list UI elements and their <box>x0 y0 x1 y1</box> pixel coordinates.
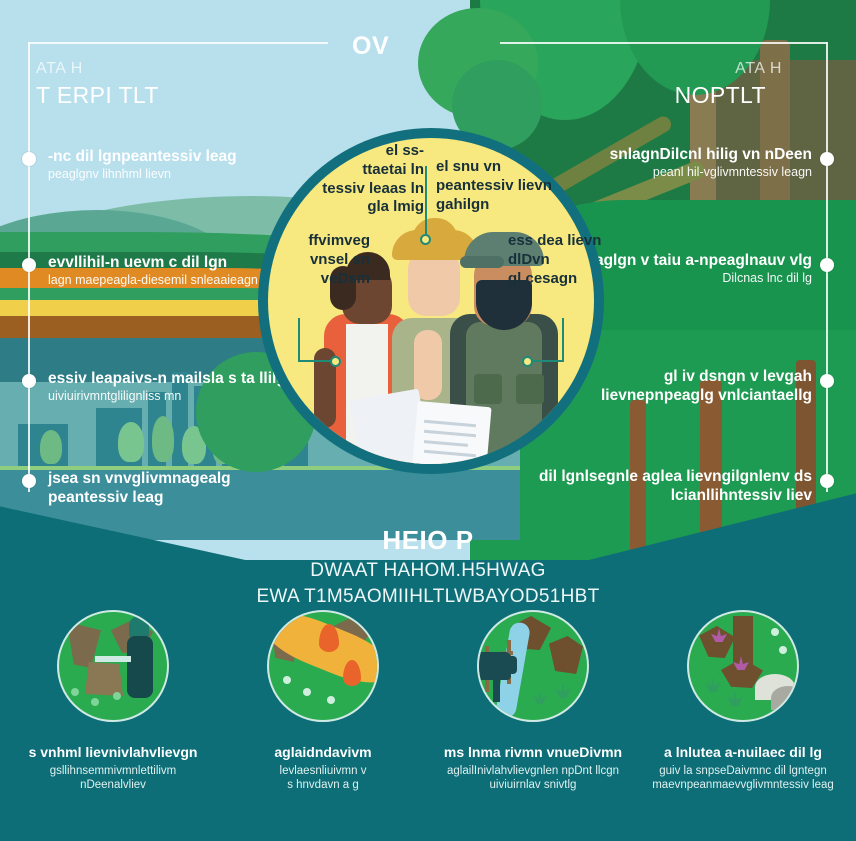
grass-tuft <box>533 690 547 704</box>
center-connector-node-right <box>522 356 533 367</box>
bottom-icon-1[interactable]: s vnhml lievnivlahvlievgn gsllihnsemmivm… <box>6 610 220 793</box>
dot-texture <box>283 676 291 684</box>
center-connector-line-top <box>425 166 427 238</box>
person-right-pocket <box>516 374 544 404</box>
left-item-1-title: -nc dil lgnpeantessiv leag <box>48 148 288 167</box>
right-item-3[interactable]: gl iv dsngn v levgah lievnepnpeaglg vnlc… <box>552 368 812 406</box>
bottom-heading-title: HEIO P <box>0 525 856 556</box>
bottom-icon-3-sub: aglailInivlahvlievgnlen npDnt llcgn uivi… <box>426 764 640 794</box>
center-connector-line-right <box>562 318 564 362</box>
dot-texture <box>71 688 79 696</box>
bottom-icon-2-caption: aglaidndavivm <box>216 744 430 762</box>
bottom-icon-1-sub: gsllihnsemmivmnlettilivm nDeenalvliev <box>6 764 220 794</box>
right-item-1-title: snlagnDilcnl hilig vn nDeen <box>552 146 812 165</box>
left-section-title: T ERPI TLT <box>36 82 159 109</box>
center-label-mid-left: ffvimveg vnsel sn veDsm <box>262 232 370 288</box>
rock-shape <box>771 686 799 710</box>
grass-tuft <box>727 690 743 706</box>
left-bullet-dot-2 <box>22 258 36 272</box>
grass-tuft <box>555 682 571 698</box>
left-item-1-sub: peaglgnv lihnhml lievn <box>48 167 288 182</box>
grass-tuft <box>705 676 721 692</box>
tree-icon <box>40 430 62 464</box>
cow-leg <box>493 674 500 702</box>
right-bullet-dot-1 <box>820 152 834 166</box>
left-item-3-title: essiv leapaivs-n mailsla s ta llilgn <box>48 370 298 389</box>
worker-body <box>127 636 153 698</box>
stump-shape <box>699 626 735 658</box>
bottom-icon-3[interactable]: ms lnma rivmn vnueDivmn aglailInivlahvli… <box>426 610 640 793</box>
left-bullet-dot-3 <box>22 374 36 388</box>
bottom-heading-subtitle-line1: DWAAT HAHOM.H5HWAG <box>0 558 856 584</box>
center-connector-line-left <box>298 318 300 362</box>
right-item-1[interactable]: snlagnDilcnl hilig vn nDeen peanl hil-vg… <box>552 146 812 180</box>
center-label-top-left: el ss- ttaetai ln tessiv leaas ln gla lm… <box>306 142 424 217</box>
logging-chainsaw-icon <box>57 610 169 722</box>
right-bullet-dot-4 <box>820 474 834 488</box>
right-bullet-dot-2 <box>820 258 834 272</box>
left-item-1[interactable]: -nc dil lgnpeantessiv leag peaglgnv lihn… <box>48 148 288 182</box>
mining-rocks-icon <box>687 610 799 722</box>
center-connector-line-left-h <box>298 360 334 362</box>
right-section-title: NOPTLT <box>675 82 766 109</box>
cow-head <box>499 656 517 674</box>
tree-icon <box>152 416 174 462</box>
left-item-4-title: jsea sn vnvglivmnagealg peantessiv leag <box>48 470 278 508</box>
right-bullet-dot-3 <box>820 374 834 388</box>
left-item-3-sub: uiviuirivmntglilignliss mn <box>48 389 298 404</box>
bottom-heading-subtitle-line2: EWA T1M5AOMIIHLTLWBAYOD51HBT <box>0 584 856 610</box>
bottom-icon-1-caption: s vnhml lievnivlahvlievgn <box>6 744 220 762</box>
bottom-icon-2[interactable]: aglaidndavivm levlaesnliuivmn v s hnvdav… <box>216 610 430 793</box>
center-label-top-right: el snu vn peantessiv lievn gahilgn <box>436 158 566 214</box>
bottom-icon-4[interactable]: a lnlutea a-nuilaec dil lg guiv la snpse… <box>636 610 850 793</box>
dot-texture <box>327 696 335 704</box>
right-rail-top <box>500 42 827 44</box>
worker-helmet <box>129 616 149 638</box>
right-item-1-sub: peanl hil-vglivmntessiv leagn <box>552 165 812 180</box>
cattle-river-icon <box>477 610 589 722</box>
poster-title: OV <box>352 32 389 61</box>
right-item-4-title: dil lgnlsegnle aglea lievngilgnlenv ds l… <box>532 468 812 506</box>
bottom-icon-4-caption: a lnlutea a-nuilaec dil lg <box>636 744 850 762</box>
dot-texture <box>113 692 121 700</box>
person-center-hat-crown <box>412 218 458 244</box>
stump-shape <box>549 636 583 674</box>
bottom-icon-4-sub: guiv la snpseDaivmnc dil lgntegn maevnpe… <box>636 764 850 794</box>
chainsaw-blade <box>95 656 131 662</box>
bottom-heading-subtitle: DWAAT HAHOM.H5HWAG EWA T1M5AOMIIHLTLWBAY… <box>0 558 856 609</box>
center-label-mid-right: ess dea lievn dlDvn gl cesagn <box>508 232 628 288</box>
right-item-4[interactable]: dil lgnlsegnle aglea lievngilgnlenv ds l… <box>532 468 812 506</box>
infographic-poster: OV ATA H T ERPI TLT -nc dil lgnpeantessi… <box>0 0 856 841</box>
center-connector-node-top <box>420 234 431 245</box>
dot-texture <box>91 698 99 706</box>
center-connector-line-right-h <box>528 360 564 362</box>
left-bullet-dot-1 <box>22 152 36 166</box>
dot-texture <box>771 628 779 636</box>
tree-icon <box>118 422 144 462</box>
left-item-3[interactable]: essiv leapaivs-n mailsla s ta llilgn uiv… <box>48 370 298 404</box>
left-item-2[interactable]: evvllihil-n uevm c dil lgn lagn maepeagl… <box>48 254 288 288</box>
left-item-4[interactable]: jsea sn vnvglivmnagealg peantessiv leag <box>48 470 278 508</box>
left-section-kicker: ATA H <box>36 60 83 78</box>
left-bullet-dot-4 <box>22 474 36 488</box>
dot-texture <box>303 688 311 696</box>
bottom-icon-2-sub: levlaesnliuivmn v s hnvdavn a g <box>216 764 430 794</box>
wildfire-icon <box>267 610 379 722</box>
left-item-2-sub: lagn maepeagla-diesemil snleaaieagn <box>48 273 288 288</box>
bottom-icon-3-caption: ms lnma rivmn vnueDivmn <box>426 744 640 762</box>
person-right-pocket <box>474 374 502 404</box>
center-connector-node-left <box>330 356 341 367</box>
left-rail-top <box>28 42 328 44</box>
stump-shape <box>85 662 123 696</box>
left-item-2-title: evvllihil-n uevm c dil lgn <box>48 254 288 273</box>
dot-texture <box>779 646 787 654</box>
person-right-cap-brim <box>460 256 504 268</box>
right-item-3-title: gl iv dsngn v levgah lievnepnpeaglg vnlc… <box>552 368 812 406</box>
right-section-kicker: ATA H <box>735 60 782 78</box>
